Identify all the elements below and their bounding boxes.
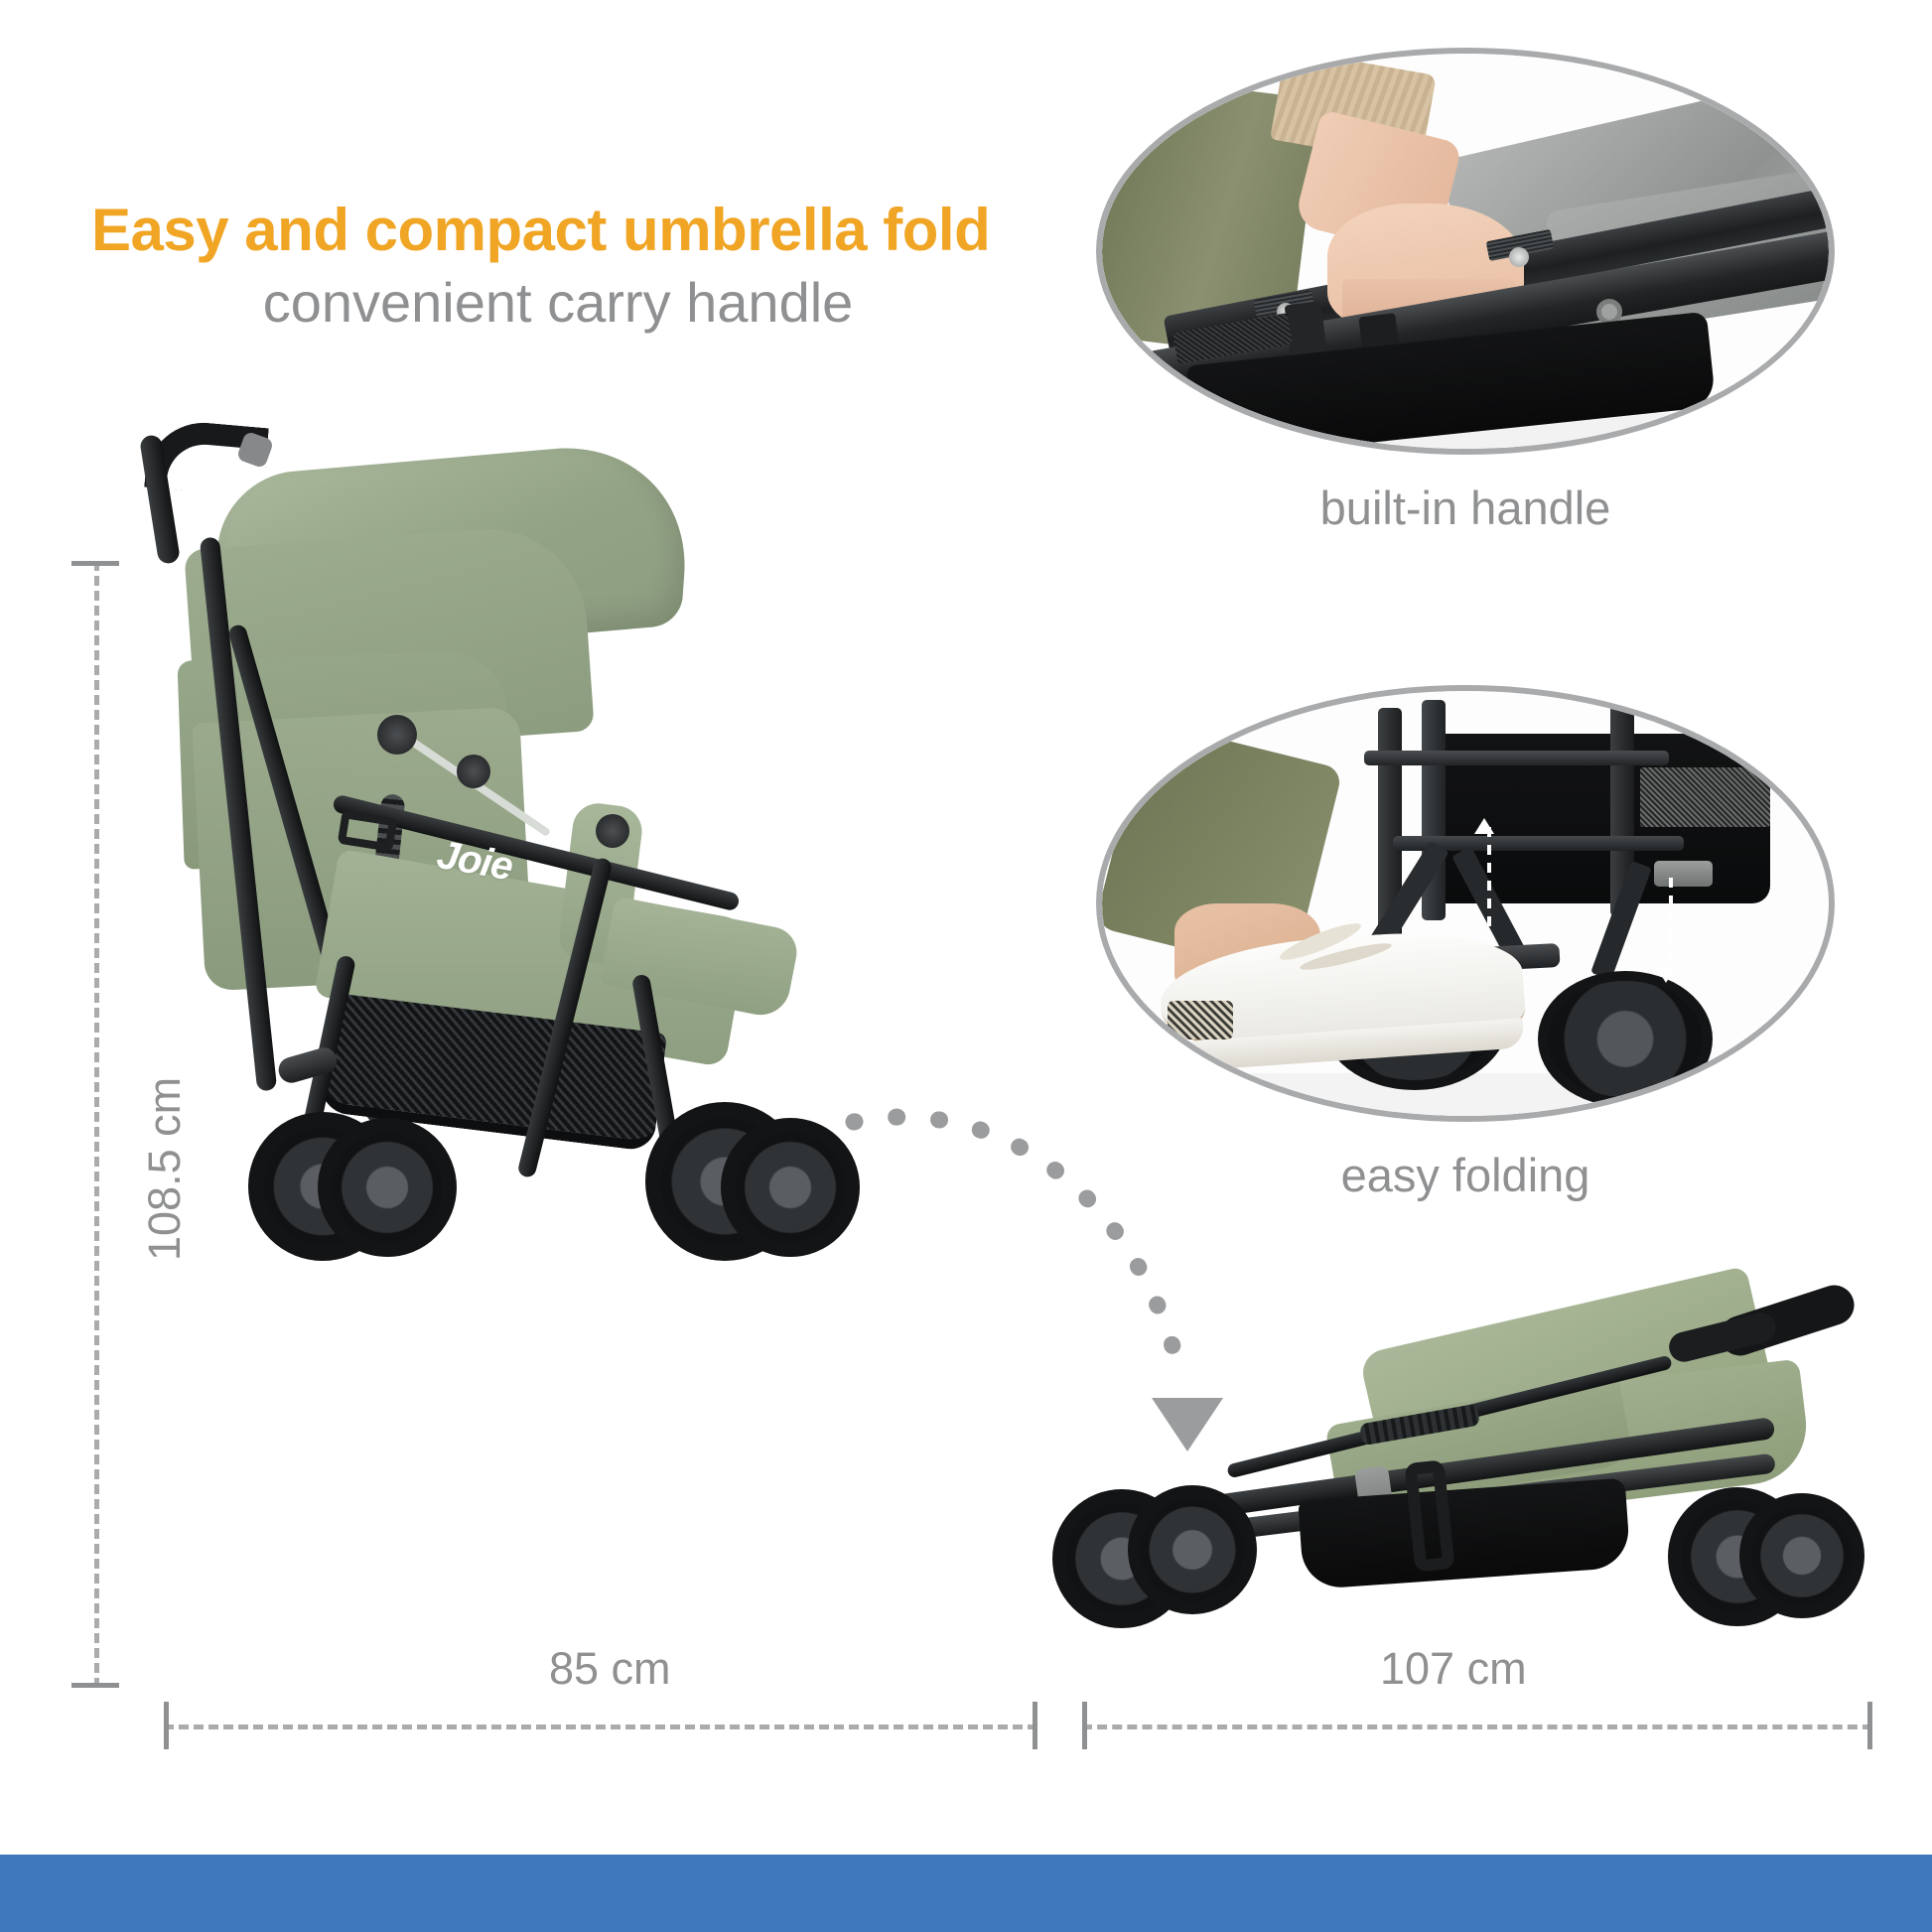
open-width-cap-right [1033, 1702, 1037, 1749]
frame-hinge-a [377, 715, 417, 755]
page-title: Easy and compact umbrella fold [91, 199, 1104, 261]
folded-length-dimension-line [1082, 1725, 1872, 1729]
open-width-cap-left [164, 1702, 169, 1749]
frame-crossbar-upper [1364, 751, 1669, 765]
arrow-dotted-path [854, 1117, 1181, 1380]
rear-wheel [1538, 971, 1713, 1107]
motion-arrow-down-shaft [1669, 878, 1673, 971]
front-wheel-outer [721, 1118, 860, 1257]
motion-arrow-up-head [1474, 818, 1494, 834]
fold-transition-arrow [844, 1082, 1301, 1459]
rear-wheel-outer [318, 1118, 457, 1257]
motion-arrow-down-head [1656, 967, 1676, 983]
open-width-dimension-line [164, 1725, 1037, 1729]
photo-easy-folding [1096, 685, 1835, 1122]
photo-inner-built-in-handle [1102, 54, 1829, 449]
folded-length-cap-right [1867, 1702, 1872, 1749]
sneaker-heel-patch [1168, 1001, 1233, 1039]
height-dimension-cap-top [71, 561, 119, 566]
folded-length-cap-left [1082, 1702, 1087, 1749]
header-text-block: Easy and compact umbrella fold convenien… [91, 199, 1104, 335]
callout-label-built-in-handle: built-in handle [1088, 481, 1843, 535]
photo-built-in-handle [1096, 48, 1835, 455]
height-dimension-label: 108.5 cm [139, 1077, 191, 1261]
folded-length-label: 107 cm [1380, 1643, 1527, 1695]
callout-built-in-handle: built-in handle [1088, 48, 1843, 535]
open-width-label: 85 cm [549, 1643, 671, 1695]
left-wheel-inner [1128, 1485, 1257, 1614]
height-dimension-line [94, 561, 99, 1688]
footer-bar [0, 1855, 1932, 1932]
fold-release-tab [1654, 861, 1713, 887]
frame-hinge-b [457, 755, 490, 788]
infographic-canvas: Easy and compact umbrella fold convenien… [0, 0, 1932, 1932]
motion-arrow-up-shaft [1487, 827, 1491, 929]
page-subtitle: convenient carry handle [91, 271, 1025, 335]
height-dimension-cap-bottom [71, 1683, 119, 1688]
photo-inner-easy-folding [1102, 691, 1829, 1116]
basket-mesh [1640, 767, 1771, 827]
stroller-open-illustration: Joie [129, 417, 933, 1311]
arrow-head [1152, 1398, 1223, 1451]
right-wheel-outer [1739, 1493, 1864, 1618]
frame-hinge-c [596, 814, 629, 848]
